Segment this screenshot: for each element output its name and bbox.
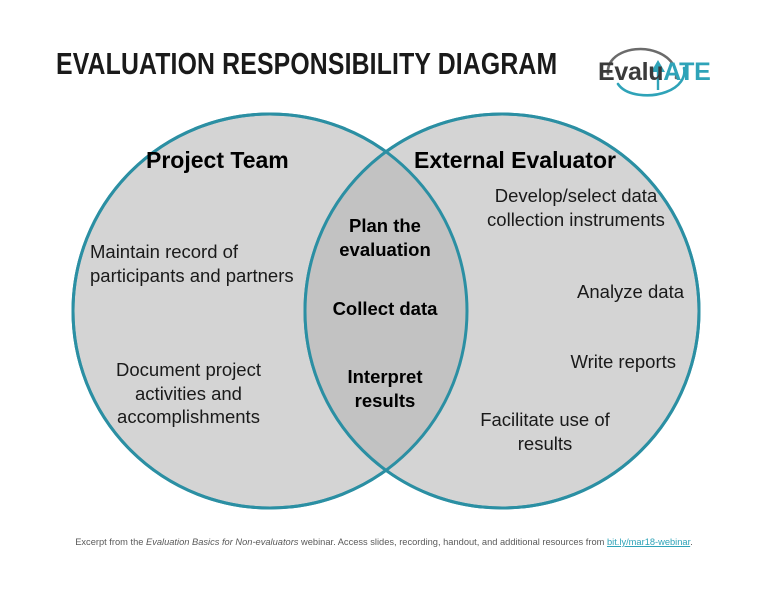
footer-text-before: Excerpt from the [75, 537, 146, 547]
footer-link[interactable]: bit.ly/mar18-webinar [607, 537, 690, 547]
venn-right-item: Facilitate use of results [452, 408, 638, 455]
venn-right-item: Write reports [460, 350, 676, 374]
footer-text-middle: webinar. Access slides, recording, hando… [298, 537, 607, 547]
venn-right-item: Develop/select data collection instrumen… [468, 184, 684, 231]
venn-right-item: Analyze data [468, 280, 684, 304]
venn-left-item: Maintain record of participants and part… [90, 240, 305, 287]
venn-label-layer: Project Team External Evaluator Maintain… [0, 0, 768, 594]
venn-overlap-item: Collect data [319, 297, 451, 321]
venn-overlap-item: Interpret results [319, 365, 451, 412]
venn-left-item: Document project activities and accompli… [86, 358, 291, 429]
venn-heading-right: External Evaluator [414, 148, 616, 173]
slide-canvas: EVALUATION RESPONSIBILITY DIAGRAM EvaluA… [0, 0, 768, 594]
footer-text-after: . [690, 537, 693, 547]
venn-overlap-item: Plan the evaluation [319, 214, 451, 261]
footer-webinar-title: Evaluation Basics for Non-evaluators [146, 537, 298, 547]
venn-heading-left: Project Team [146, 148, 289, 173]
footer-attribution: Excerpt from the Evaluation Basics for N… [0, 536, 768, 548]
